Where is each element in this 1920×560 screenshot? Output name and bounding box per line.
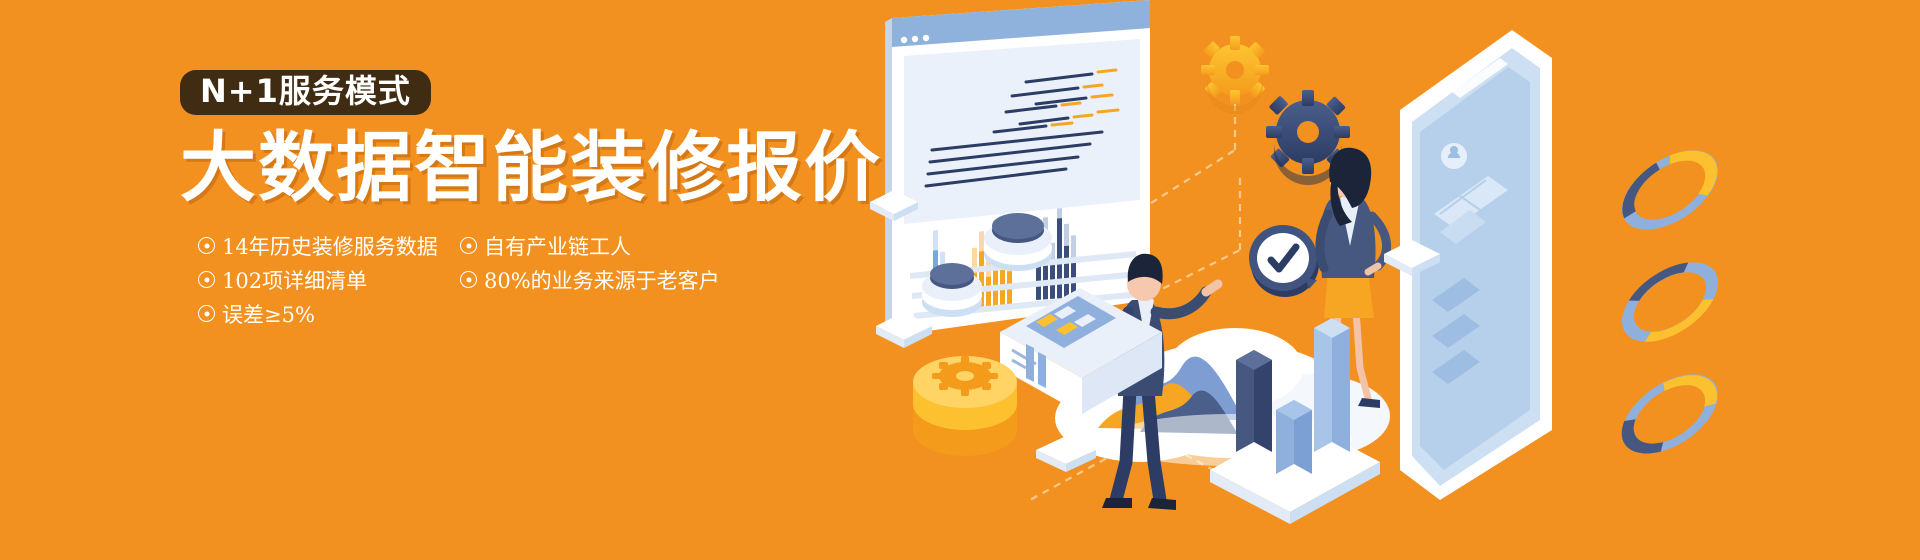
isometric-big-data-illustration (840, 0, 1920, 560)
donut-ring-2 (1628, 255, 1712, 350)
donut-ring-1 (1628, 143, 1712, 237)
list-item: 14年历史装修服务数据 (198, 229, 460, 263)
service-model-badge: N+1服务模式 (180, 70, 431, 115)
feature-bullet-list: 14年历史装修服务数据 102项详细清单 误差≥5% 自有产业链工人 80%的业… (198, 229, 940, 331)
banner-text-block: N+1服务模式 大数据智能装修报价 14年历史装修服务数据 102项详细清单 误… (180, 70, 940, 400)
circled-dot-icon (198, 305, 215, 322)
check-badge (1249, 225, 1319, 297)
donut-ring-3 (1628, 367, 1712, 462)
circled-dot-icon (198, 237, 215, 254)
gear-orange (1201, 36, 1269, 114)
list-item: 误差≥5% (198, 297, 460, 331)
circled-dot-icon (460, 271, 477, 288)
list-item-label: 14年历史装修服务数据 (222, 231, 438, 261)
list-item-label: 102项详细清单 (222, 265, 367, 295)
circled-dot-icon (198, 271, 215, 288)
list-item-label: 80%的业务来源于老客户 (484, 265, 720, 295)
circled-dot-icon (460, 237, 477, 254)
list-item-label: 误差≥5% (222, 299, 315, 329)
hero-banner: N+1服务模式 大数据智能装修报价 14年历史装修服务数据 102项详细清单 误… (0, 0, 1920, 560)
database-cylinder-orange (913, 356, 1017, 456)
list-item-label: 自有产业链工人 (484, 231, 631, 261)
list-item: 102项详细清单 (198, 263, 460, 297)
page-title: 大数据智能装修报价 (180, 129, 940, 207)
